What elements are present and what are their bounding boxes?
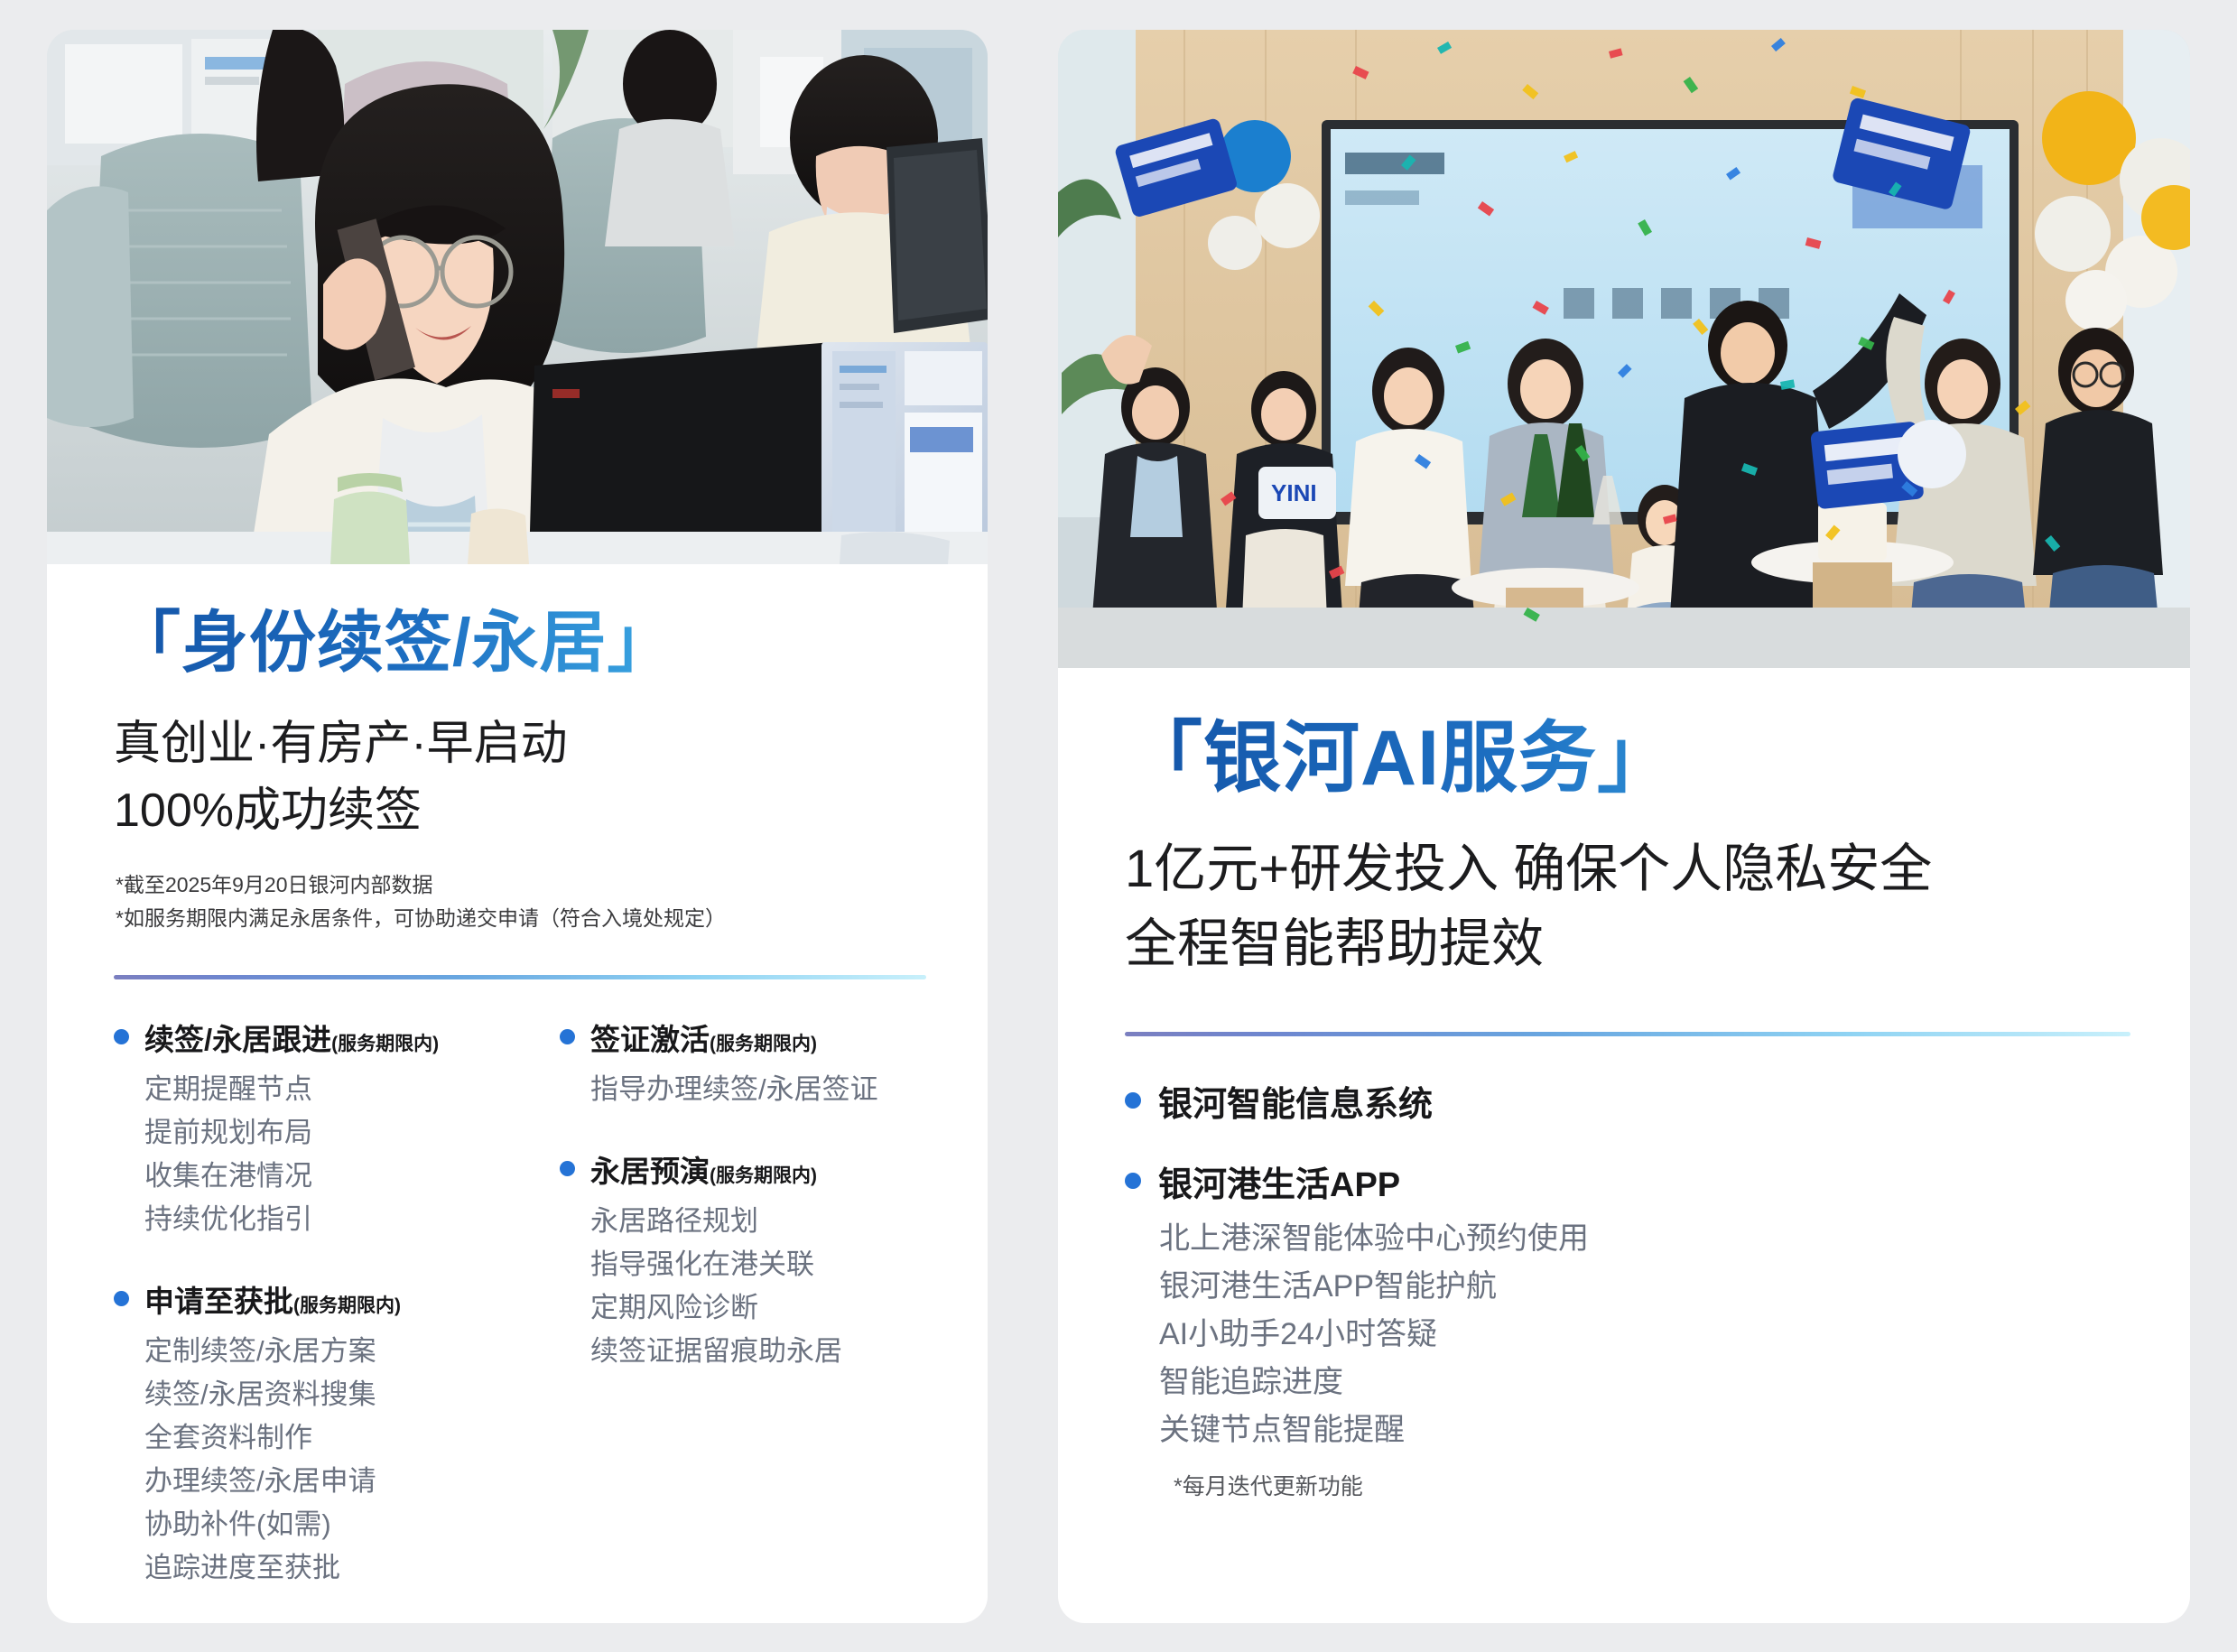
feature-group-header: 签证激活 (服务期限内) (560, 1016, 984, 1059)
card-right-body: 「银河AI服务」 1亿元+研发投入 确保个人隐私安全 全程智能帮助提效 银河智能… (1058, 668, 2190, 1501)
card-left-body: 「身份续签/永居」 真创业·有房产·早启动 100%成功续签 *截至2025年9… (47, 564, 988, 1591)
feature-group-title: 续签/永居跟进 (144, 1016, 331, 1059)
feature-columns-left: 续签/永居跟进 (服务期限内) 定期提醒节点 提前规划布局 收集在港情况 持续优… (114, 1016, 935, 1590)
bullet-dot-icon (1125, 1173, 1141, 1189)
card-galaxy-ai-service: YINI (1058, 30, 2190, 1623)
list-item: 北上港深智能体验中心预约使用 (1159, 1215, 2138, 1263)
feature-group-header: 永居预演 (服务期限内) (560, 1147, 984, 1191)
feature-group-note: (服务期限内) (331, 1029, 439, 1056)
page-title-left: 「身份续签/永居」 (114, 606, 935, 681)
bullet-dot-icon (114, 1291, 129, 1306)
feature-column: 续签/永居跟进 (服务期限内) 定期提醒节点 提前规划布局 收集在港情况 持续优… (114, 1016, 538, 1590)
list-item: 办理续签/永居申请 (144, 1460, 538, 1503)
poster-root: 「身份续签/永居」 真创业·有房产·早启动 100%成功续签 *截至2025年9… (0, 0, 2237, 1652)
feature-group-header: 续签/永居跟进 (服务期限内) (114, 1016, 538, 1059)
feature-sub-list: 定制续签/永居方案 续签/永居资料搜集 全套资料制作 办理续签/永居申请 协助补… (144, 1330, 538, 1590)
feature-list-right: 银河智能信息系统 银河港生活APP 北上港深智能体验中心预约使用 银河港生活AP… (1125, 1076, 2138, 1501)
feature-group-note: (服务期限内) (710, 1029, 817, 1056)
office-photo-illustration (47, 30, 988, 564)
tail-note: *每月迭代更新功能 (1174, 1469, 2138, 1501)
subtitle-left: 真创业·有房产·早启动 100%成功续签 (114, 711, 935, 845)
feature-group-title: 银河港生活APP (1158, 1156, 1400, 1206)
list-item: 银河港生活APP智能护航 (1159, 1263, 2138, 1311)
list-item: 持续优化指引 (144, 1198, 538, 1241)
list-item: 协助补件(如需) (144, 1503, 538, 1546)
celebration-photo-illustration: YINI (1058, 30, 2190, 668)
feature-group: 银河港生活APP 北上港深智能体验中心预约使用 银河港生活APP智能护航 AI小… (1125, 1156, 2138, 1501)
bullet-dot-icon (560, 1161, 575, 1176)
feature-group-note: (服务期限内) (293, 1291, 401, 1318)
feature-group-note: (服务期限内) (710, 1161, 817, 1188)
list-item: 永居路径规划 (590, 1200, 984, 1243)
list-item: 关键节点智能提醒 (1159, 1406, 2138, 1454)
bullet-dot-icon (114, 1029, 129, 1044)
feature-group: 申请至获批 (服务期限内) 定制续签/永居方案 续签/永居资料搜集 全套资料制作… (114, 1277, 538, 1590)
list-item: 收集在港情况 (144, 1155, 538, 1198)
svg-text:YINI: YINI (1271, 479, 1317, 506)
list-item: 定期提醒节点 (144, 1068, 538, 1111)
feature-group-title: 永居预演 (590, 1147, 710, 1191)
feature-sub-list: 北上港深智能体验中心预约使用 银河港生活APP智能护航 AI小助手24小时答疑 … (1159, 1215, 2138, 1454)
feature-group-header: 银河智能信息系统 (1125, 1076, 2138, 1126)
list-item: 指导办理续签/永居签证 (590, 1068, 984, 1111)
hero-image-office (47, 30, 988, 564)
feature-sub-list: 永居路径规划 指导强化在港关联 定期风险诊断 续签证据留痕助永居 (590, 1200, 984, 1373)
feature-group: 银河智能信息系统 (1125, 1076, 2138, 1126)
list-item: 定期风险诊断 (590, 1286, 984, 1330)
feature-group: 永居预演 (服务期限内) 永居路径规划 指导强化在港关联 定期风险诊断 续签证据… (560, 1147, 984, 1373)
hero-image-celebration: YINI (1058, 30, 2190, 668)
card-identity-renewal: 「身份续签/永居」 真创业·有房产·早启动 100%成功续签 *截至2025年9… (47, 30, 988, 1623)
list-item: 指导强化在港关联 (590, 1243, 984, 1286)
list-item: 续签/永居资料搜集 (144, 1373, 538, 1416)
bullet-dot-icon (1125, 1092, 1141, 1109)
bullet-dot-icon (560, 1029, 575, 1044)
subtitle-right: 1亿元+研发投入 确保个人隐私安全 全程智能帮助提效 (1125, 832, 2138, 981)
feature-group-title: 签证激活 (590, 1016, 710, 1059)
feature-group: 签证激活 (服务期限内) 指导办理续签/永居签证 (560, 1016, 984, 1111)
feature-sub-list: 指导办理续签/永居签证 (590, 1068, 984, 1111)
list-item: AI小助手24小时答疑 (1159, 1311, 2138, 1359)
list-item: 智能追踪进度 (1159, 1359, 2138, 1406)
feature-column: 签证激活 (服务期限内) 指导办理续签/永居签证 永居预演 (服务期限内) (560, 1016, 984, 1590)
footnote: *截至2025年9月20日银河内部数据 (116, 868, 935, 902)
page-title-right: 「银河AI服务」 (1125, 715, 2138, 802)
feature-group-header: 申请至获批 (服务期限内) (114, 1277, 538, 1321)
feature-sub-list: 定期提醒节点 提前规划布局 收集在港情况 持续优化指引 (144, 1068, 538, 1241)
list-item: 提前规划布局 (144, 1111, 538, 1155)
feature-group-title: 申请至获批 (144, 1277, 293, 1321)
feature-group-header: 银河港生活APP (1125, 1156, 2138, 1206)
feature-group: 续签/永居跟进 (服务期限内) 定期提醒节点 提前规划布局 收集在港情况 持续优… (114, 1016, 538, 1241)
divider (1125, 1032, 2130, 1036)
list-item: 追踪进度至获批 (144, 1546, 538, 1590)
divider (114, 975, 926, 979)
feature-group-title: 银河智能信息系统 (1158, 1076, 1433, 1126)
footnotes-left: *截至2025年9月20日银河内部数据 *如服务期限内满足永居条件，可协助递交申… (116, 868, 935, 936)
list-item: 全套资料制作 (144, 1416, 538, 1460)
list-item: 定制续签/永居方案 (144, 1330, 538, 1373)
footnote: *如服务期限内满足永居条件，可协助递交申请（符合入境处规定） (116, 902, 935, 935)
list-item: 续签证据留痕助永居 (590, 1330, 984, 1373)
